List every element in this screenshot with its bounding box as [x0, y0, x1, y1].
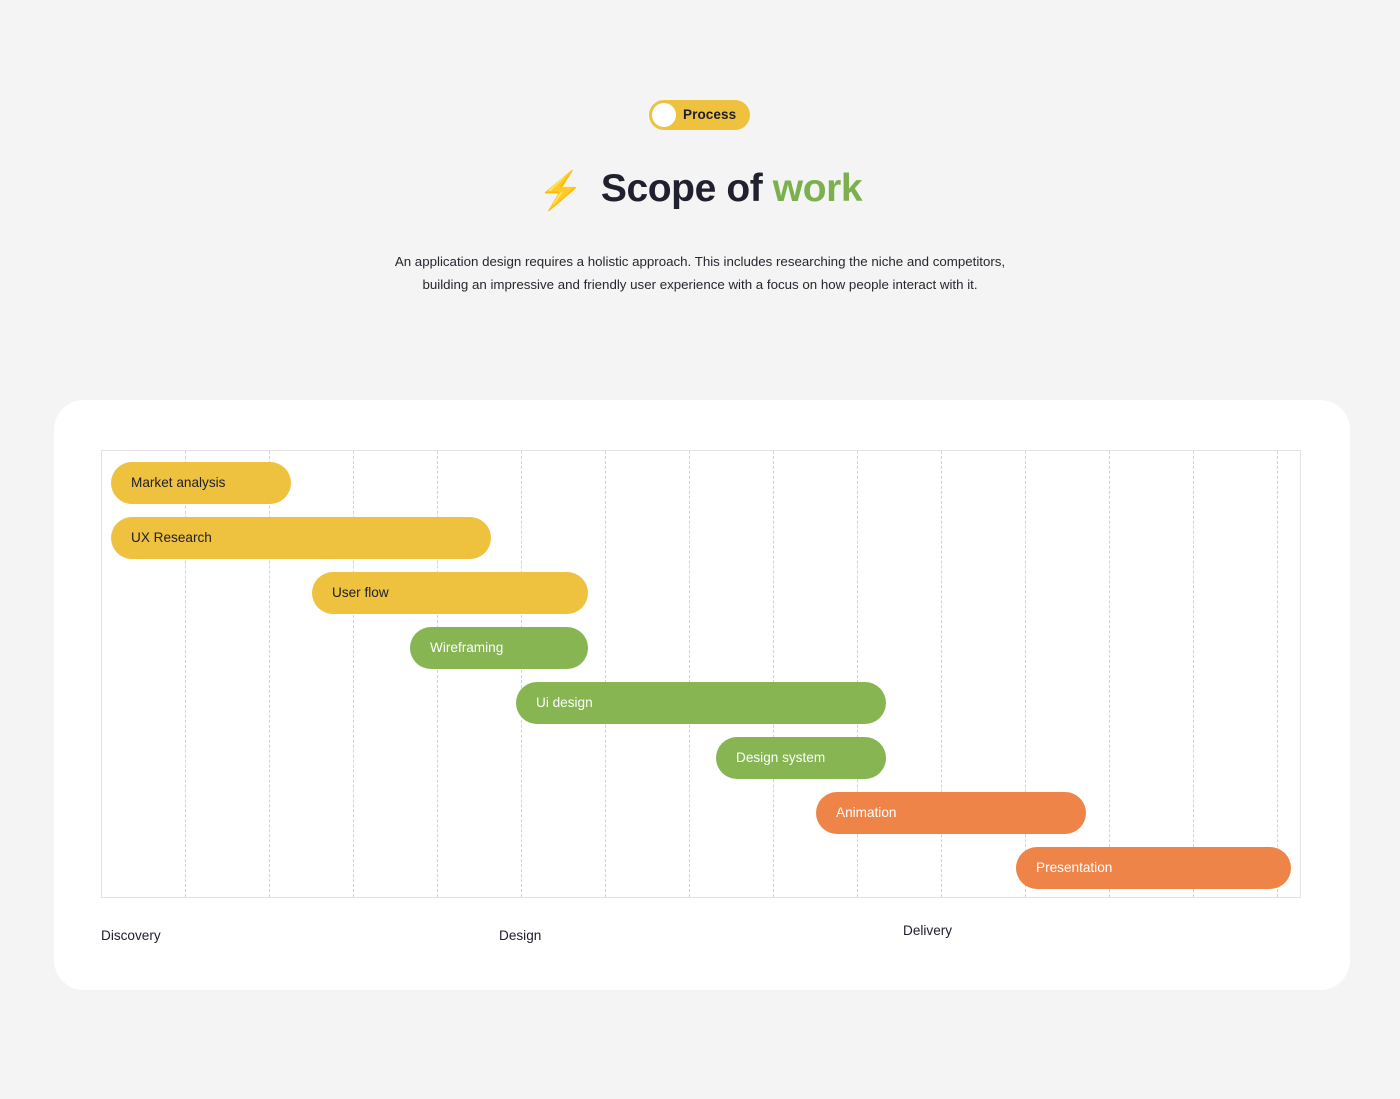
phase-label-delivery: Delivery — [903, 924, 952, 938]
gantt-bar[interactable]: Presentation — [1016, 847, 1291, 889]
gantt-bar-label: Wireframing — [430, 641, 503, 655]
gantt-bar-label: Animation — [836, 806, 896, 820]
scope-of-work-page: Process ⚡ Scope of work An application d… — [0, 0, 1400, 1099]
subtitle-line-1: An application design requires a holisti… — [395, 254, 1005, 269]
title-accent: work — [773, 167, 862, 210]
gantt-bar-label: Design system — [736, 751, 825, 765]
lightning-bolt-icon: ⚡ — [538, 172, 584, 209]
gantt-bar[interactable]: User flow — [312, 572, 588, 614]
gantt-bar[interactable]: Design system — [716, 737, 886, 779]
gantt-bar[interactable]: Wireframing — [410, 627, 588, 669]
badge-dot-icon — [652, 103, 676, 127]
gantt-bar[interactable]: Ui design — [516, 682, 886, 724]
gantt-bar-label: User flow — [332, 586, 389, 600]
phase-label-discovery: Discovery — [101, 929, 161, 943]
subtitle-line-2: building an impressive and friendly user… — [422, 277, 977, 292]
phase-label-design: Design — [499, 929, 541, 943]
title-main: Scope of — [601, 167, 762, 210]
gantt-bar[interactable]: Animation — [816, 792, 1086, 834]
process-badge: Process — [649, 100, 750, 130]
gantt-card: Market analysisUX ResearchUser flowWiref… — [54, 400, 1350, 990]
gantt-bar-label: Presentation — [1036, 861, 1112, 875]
gantt-phase-labels: DiscoveryDesignDelivery — [101, 450, 1301, 550]
page-subtitle: An application design requires a holisti… — [0, 250, 1400, 296]
badge-label: Process — [683, 108, 736, 123]
page-title: ⚡ Scope of work — [0, 168, 1400, 211]
gantt-bar-label: Ui design — [536, 696, 593, 710]
page-title-text: Scope of work — [601, 168, 862, 211]
